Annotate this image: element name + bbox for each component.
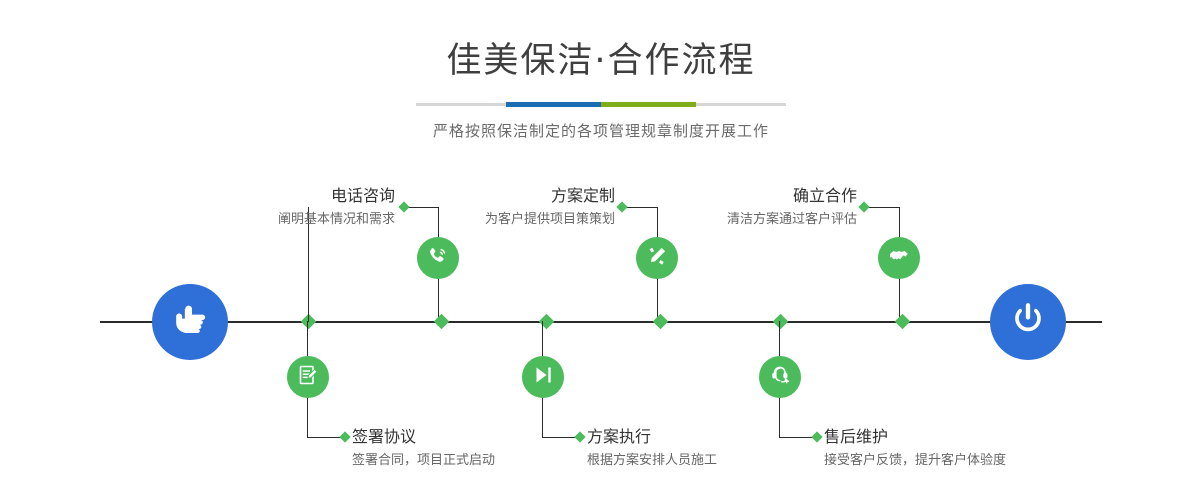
divider-blue-segment [506,102,601,107]
step-label-6: 售后维护 接受客户反馈，提升客户体验度 [824,427,1184,471]
headset-support-icon [768,363,792,391]
step-label-3: 方案定制 为客户提供项目策策划 [350,186,615,230]
flow-start-badge [152,284,228,360]
axis-node-6 [895,314,911,330]
page-title: 佳美保洁·合作流程 [0,0,1202,79]
step-icon-5 [878,237,920,279]
pencil-ruler-icon [645,244,669,272]
step-icon-2 [287,356,329,398]
step-desc-6: 接受客户反馈，提升客户体验度 [824,451,1184,471]
step-icon-1 [417,237,459,279]
step-icon-3 [636,237,678,279]
process-flow-infographic: 佳美保洁·合作流程 严格按照保洁制定的各项管理规章制度开展工作 [0,0,1202,502]
page-subtitle: 严格按照保洁制定的各项管理规章制度开展工作 [0,120,1202,141]
document-pencil-icon [296,363,320,391]
divider-green-segment [601,102,696,107]
power-icon [1008,300,1048,344]
step-icon-4 [522,356,564,398]
step-title-6: 售后维护 [824,427,1184,447]
play-forward-icon [531,363,555,391]
step-label-5: 确立合作 清洁方案通过客户评估 [592,186,857,230]
branch-dot-2 [339,431,350,442]
step-icon-6 [759,356,801,398]
phone-ringing-icon [426,244,450,272]
title-divider [416,103,786,106]
handshake-icon [887,244,911,272]
axis-node-5 [773,314,789,330]
branch-dot-5 [858,201,869,212]
flow-end-badge [990,284,1066,360]
step-title-5: 确立合作 [592,186,857,206]
pointing-hand-icon [170,300,210,344]
step-desc-5: 清洁方案通过客户评估 [592,210,857,230]
axis-node-2 [434,314,450,330]
timeline-axis [100,321,1102,323]
axis-node-4 [653,314,669,330]
page-header: 佳美保洁·合作流程 严格按照保洁制定的各项管理规章制度开展工作 [0,0,1202,141]
step-desc-3: 为客户提供项目策策划 [350,210,615,230]
step-title-3: 方案定制 [350,186,615,206]
